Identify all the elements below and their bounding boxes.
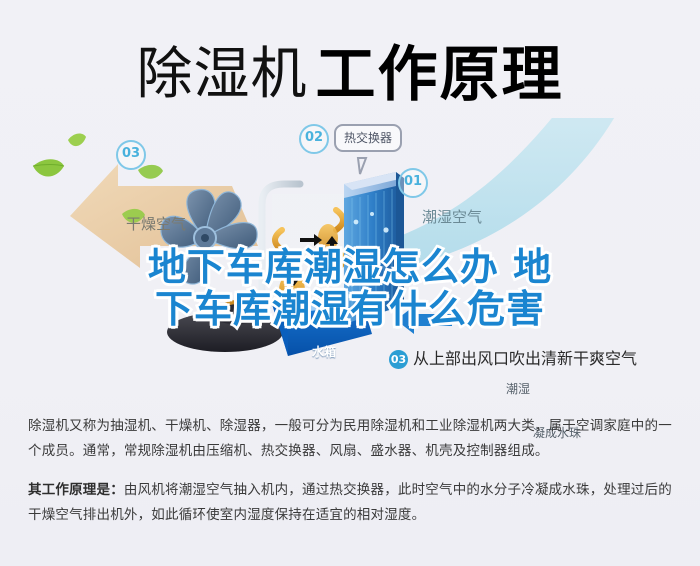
infographic-page: 除湿机工作原理 bbox=[0, 0, 700, 566]
title-light-part: 除湿机 bbox=[137, 42, 308, 107]
water-tank-label: 水箱 bbox=[312, 343, 336, 360]
caption-badge-icon: 03 bbox=[389, 350, 408, 369]
step-badge-02: 02 bbox=[299, 124, 329, 154]
callout-tail bbox=[358, 158, 366, 174]
heat-exchanger-block bbox=[344, 172, 404, 324]
body-paragraph-2: 其工作原理是：由风机将潮湿空气抽入机内，通过热交换器，此时空气中的水分子冷凝成水… bbox=[28, 478, 676, 528]
step-badge-01: 01 bbox=[398, 168, 428, 198]
title-bold-part: 工作原理 bbox=[316, 40, 564, 110]
body-paragraph-2-rest: 由风机将潮湿空气抽入机内，通过热交换器，此时空气中的水分子冷凝成水珠，处理过后的… bbox=[28, 482, 672, 523]
compressor-base bbox=[167, 302, 283, 352]
page-title: 除湿机工作原理 bbox=[0, 26, 700, 113]
humid-air-label: 潮湿空气 bbox=[422, 206, 482, 227]
dry-air-label: 干燥空气 bbox=[126, 213, 186, 234]
heat-exchanger-callout: 热交换器 bbox=[334, 124, 402, 152]
body-paragraph-1: 除湿机又称为抽湿机、干燥机、除湿器，一般可分为民用除湿机和工业除湿机两大类，属于… bbox=[28, 414, 676, 464]
inlet-arrow bbox=[396, 306, 452, 334]
body-copy: 除湿机又称为抽湿机、干燥机、除湿器，一般可分为民用除湿机和工业除湿机两大类，属于… bbox=[28, 414, 676, 528]
step-badge-03: 03 bbox=[116, 140, 146, 170]
caption-text: 从上部出风口吹出清新干爽空气 bbox=[413, 349, 637, 368]
copper-coils bbox=[272, 194, 352, 307]
step-caption-03: 03从上部出风口吹出清新干爽空气 bbox=[389, 345, 637, 369]
obscured-humid-label: 潮湿 bbox=[506, 380, 530, 397]
body-paragraph-2-lead: 其工作原理是： bbox=[28, 482, 124, 498]
